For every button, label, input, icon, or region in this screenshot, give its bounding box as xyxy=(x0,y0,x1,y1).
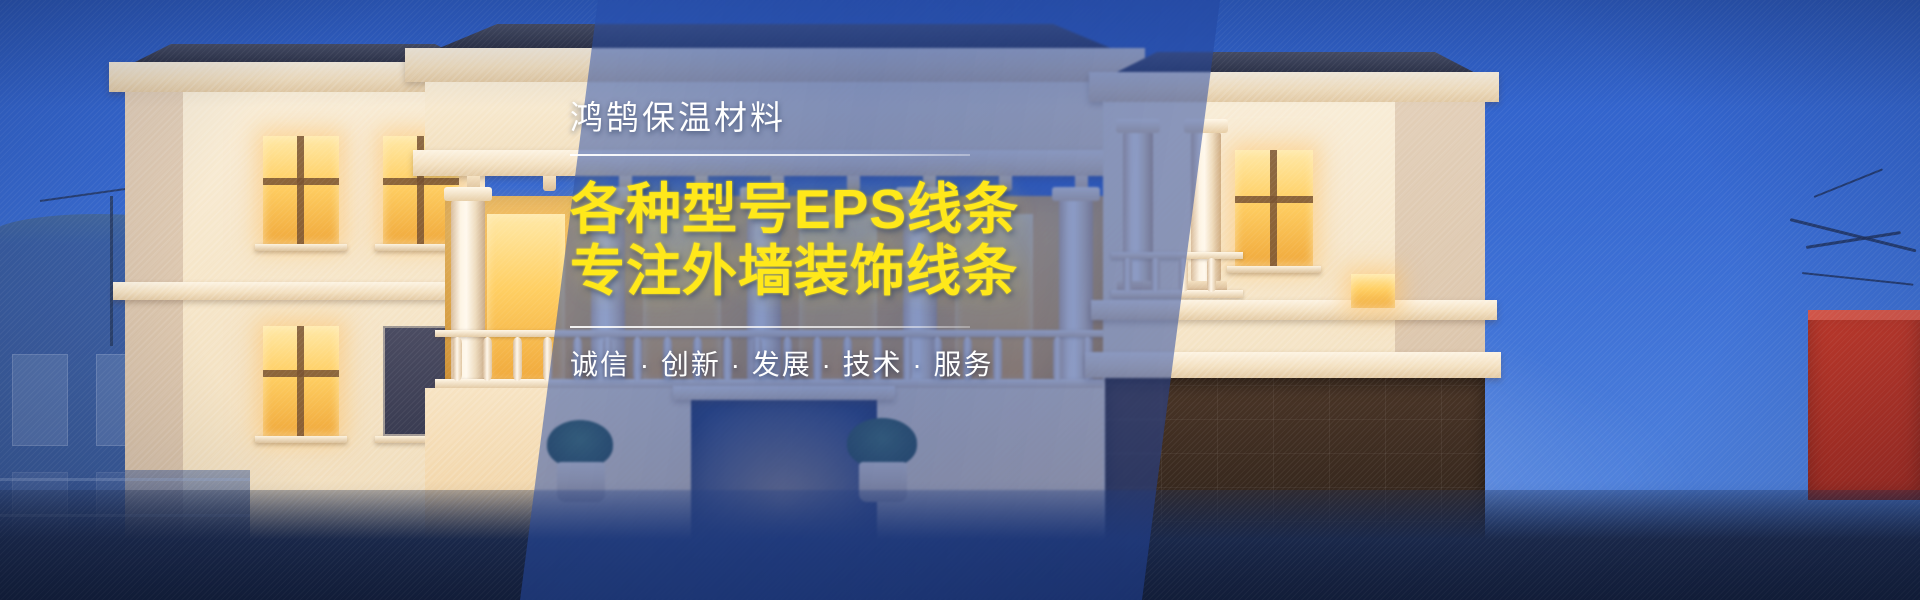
tagline: 诚信 · 创新 · 发展 · 技术 · 服务 xyxy=(570,348,1040,382)
divider-top xyxy=(570,154,970,156)
brand-subtitle: 鸿鹄保温材料 xyxy=(570,98,1040,138)
window-mullion xyxy=(297,136,304,244)
headline-group: 各种型号EPS线条 专注外墙装饰线条 xyxy=(570,178,1040,302)
window-transom xyxy=(383,178,459,185)
window-transom xyxy=(263,370,339,377)
window-transom xyxy=(263,178,339,185)
window-mullion xyxy=(297,326,304,436)
headline-line-1: 各种型号EPS线条 xyxy=(570,178,1040,240)
window-transom xyxy=(1235,196,1313,203)
window-sill xyxy=(255,244,347,251)
window-mullion xyxy=(1270,150,1277,266)
left-wing-string-course xyxy=(113,282,499,300)
red-panel-cap xyxy=(1808,310,1920,320)
window-lit-small xyxy=(1351,274,1395,308)
window-sill xyxy=(255,436,347,443)
divider-bottom xyxy=(570,326,970,328)
hero-banner: 鸿鹄保温材料 各种型号EPS线条 专注外墙装饰线条 诚信 · 创新 · 发展 ·… xyxy=(0,0,1920,600)
red-wall-panel xyxy=(1808,310,1920,500)
headline-line-2: 专注外墙装饰线条 xyxy=(570,240,1040,302)
dentil xyxy=(543,176,556,191)
